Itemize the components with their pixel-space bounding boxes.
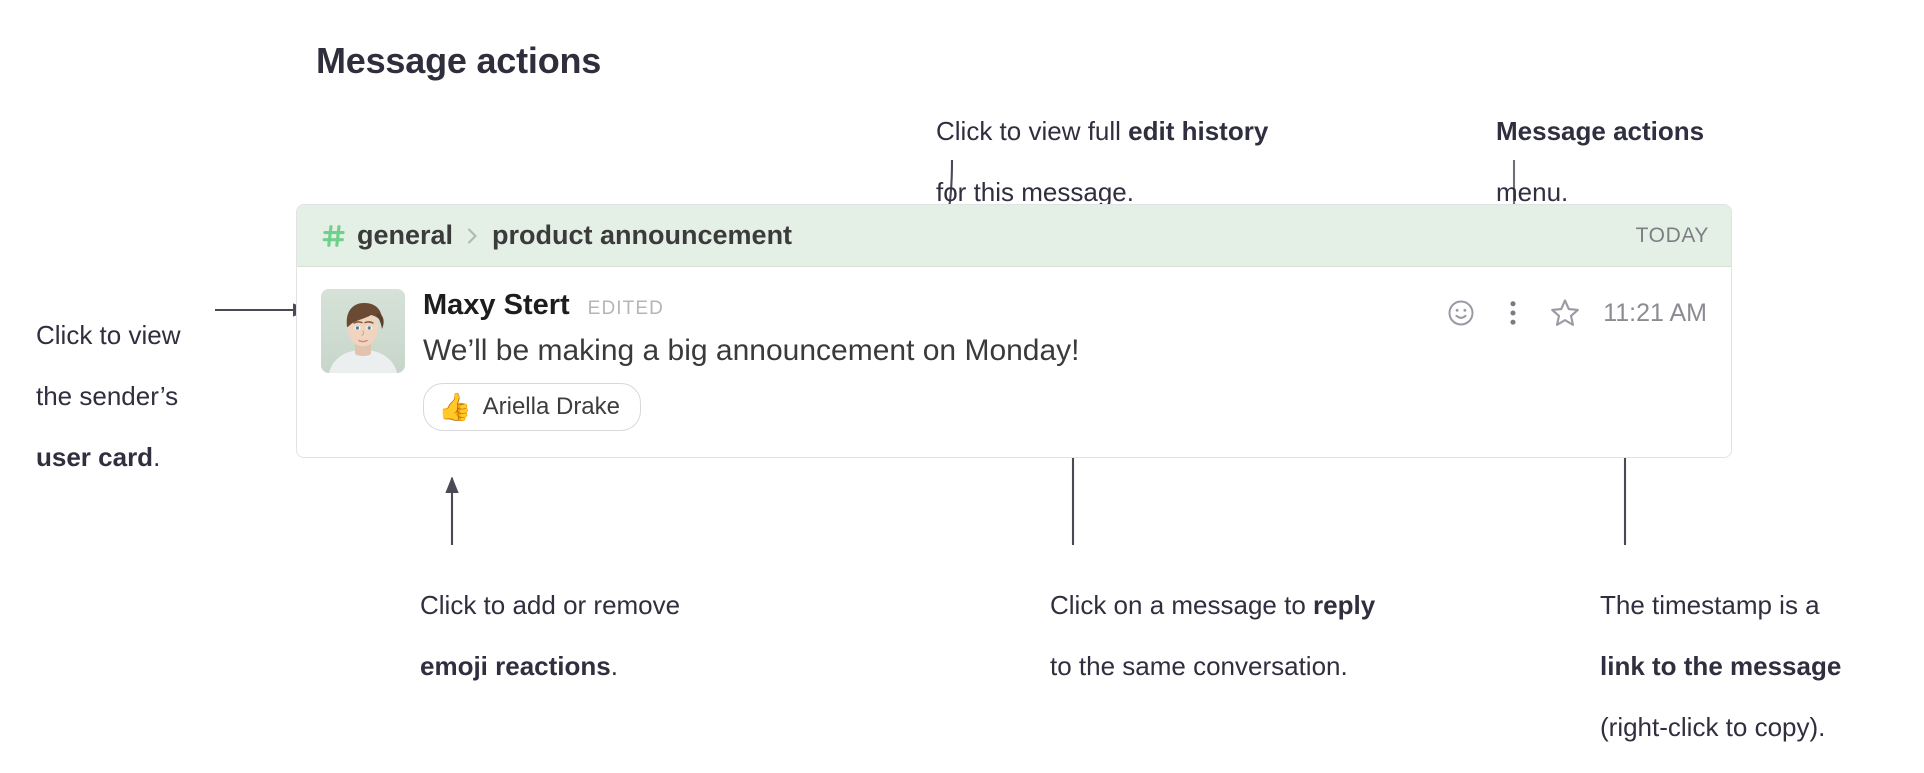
- reaction-reactor-name: Ariella Drake: [483, 393, 620, 421]
- star-icon[interactable]: [1539, 293, 1591, 333]
- annotation-reply: Click on a message to reply to the same …: [1050, 560, 1375, 712]
- message-actions-menu-icon[interactable]: [1487, 293, 1539, 333]
- annotation-line: Click to view full edit history: [936, 116, 1268, 146]
- message-timestamp[interactable]: 11:21 AM: [1603, 299, 1707, 328]
- annotation-line: emoji reactions.: [420, 651, 680, 681]
- breadcrumb-channel[interactable]: general: [357, 220, 453, 251]
- reaction-pill[interactable]: 👍 Ariella Drake: [423, 383, 641, 431]
- annotation-line: Message actions: [1496, 116, 1704, 146]
- annotation-user-card: Click to view the sender’s user card.: [36, 290, 180, 503]
- annotation-line: (right-click to copy).: [1600, 712, 1841, 742]
- message-body[interactable]: We’ll be making a big announcement on Mo…: [423, 333, 1707, 369]
- page-title: Message actions: [316, 40, 601, 82]
- thumbs-up-emoji: 👍: [438, 394, 472, 421]
- message-row[interactable]: Maxy Stert EDITED We’ll be making a big …: [297, 267, 1731, 457]
- annotation-line: Click to view: [36, 320, 180, 350]
- chevron-right-icon: [466, 226, 479, 246]
- sender-name[interactable]: Maxy Stert: [423, 289, 570, 322]
- annotation-line: user card.: [36, 442, 180, 472]
- annotation-line: link to the message: [1600, 651, 1841, 681]
- add-reaction-icon[interactable]: [1435, 293, 1487, 333]
- annotation-line: Click to add or remove: [420, 590, 680, 620]
- annotation-line: Click on a message to reply: [1050, 590, 1375, 620]
- hash-icon: [321, 223, 347, 249]
- message-actions: 11:21 AM: [1435, 293, 1707, 333]
- edited-badge[interactable]: EDITED: [588, 298, 664, 320]
- card-header: general product announcement TODAY: [297, 205, 1731, 267]
- message-card: general product announcement TODAY: [296, 204, 1732, 458]
- date-label: TODAY: [1636, 224, 1709, 248]
- annotation-line: to the same conversation.: [1050, 651, 1375, 681]
- annotation-timestamp: The timestamp is a link to the message (…: [1600, 560, 1841, 773]
- breadcrumb-topic[interactable]: product announcement: [492, 220, 792, 251]
- annotation-line: The timestamp is a: [1600, 590, 1841, 620]
- annotation-line: the sender’s: [36, 381, 180, 411]
- user-avatar-photo[interactable]: [321, 289, 405, 373]
- annotation-emoji-reactions: Click to add or remove emoji reactions.: [420, 560, 680, 712]
